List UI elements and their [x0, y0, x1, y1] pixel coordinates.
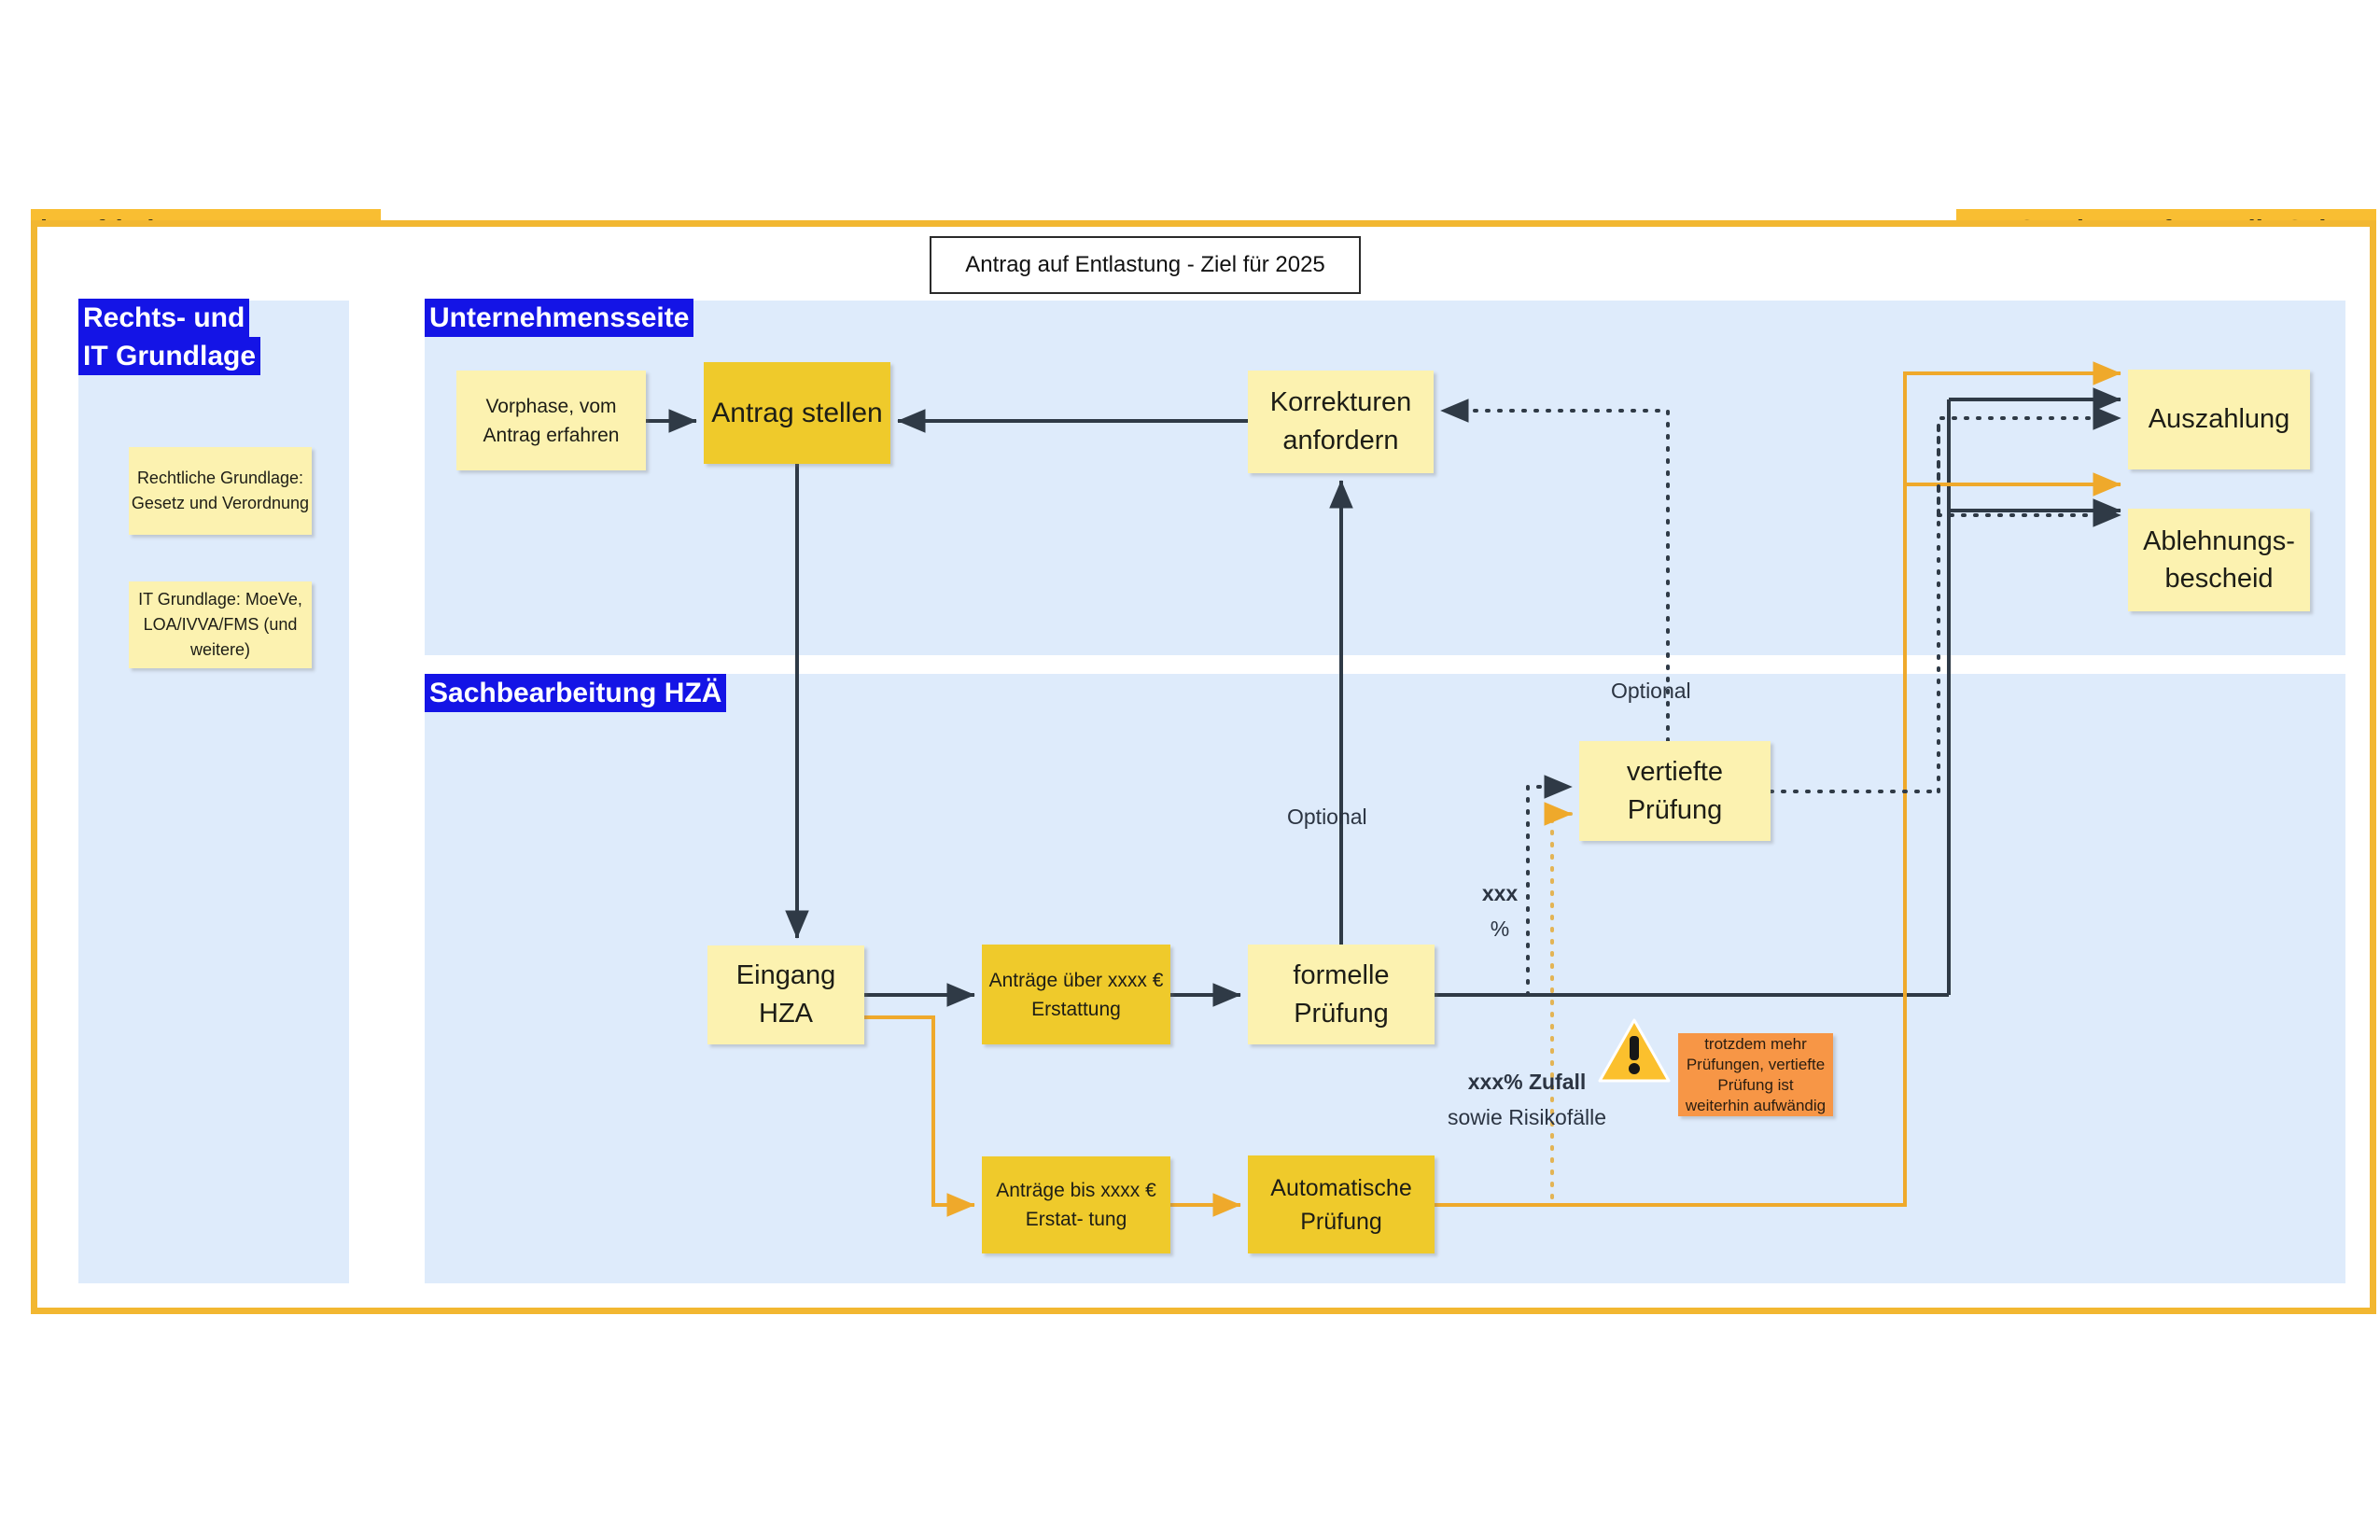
lane-title-rechts-it-line2: IT Grundlage: [78, 337, 260, 375]
lane-unternehmensseite-background: [425, 301, 2345, 655]
label-percent: %: [1477, 917, 1523, 942]
box-warn-note[interactable]: trotzdem mehr Prüfungen, vertiefte Prüfu…: [1678, 1033, 1833, 1116]
note-rechtliche-grundlage: Rechtliche Grundlage: Gesetz und Verordn…: [129, 447, 312, 535]
box-antrag-stellen[interactable]: Antrag stellen: [704, 362, 890, 464]
note-rechtliche-grundlage-text: Rechtliche Grundlage: Gesetz und Verordn…: [129, 466, 312, 516]
box-automatische-pruefung-label: Automatische Prüfung: [1248, 1171, 1435, 1239]
label-optional-formelle: Optional: [1287, 805, 1367, 830]
lane-title-sachbearbeitung: Sachbearbeitung HZÄ: [425, 674, 726, 712]
box-warn-note-label: trotzdem mehr Prüfungen, vertiefte Prüfu…: [1678, 1034, 1833, 1116]
box-vertiefte-pruefung-label: vertiefte Prüfung: [1579, 753, 1771, 830]
label-optional-vertiefte: Optional: [1611, 679, 1691, 704]
warning-triangle-icon: [1598, 1017, 1671, 1085]
box-automatische-pruefung[interactable]: Automatische Prüfung: [1248, 1155, 1435, 1253]
box-auszahlung-label: Auszahlung: [2143, 404, 2296, 435]
box-antraege-bis-label: Anträge bis xxxx € Erstat- tung: [982, 1176, 1170, 1234]
box-korrekturen-anfordern-label: Korrekturen anfordern: [1248, 384, 1434, 460]
box-formelle-pruefung[interactable]: formelle Prüfung: [1248, 945, 1435, 1044]
box-eingang-hza-label: Eingang HZA: [707, 957, 864, 1033]
box-formelle-pruefung-label: formelle Prüfung: [1248, 957, 1435, 1033]
note-it-grundlage-text: IT Grundlage: MoeVe, LOA/IVVA/FMS (und w…: [129, 587, 312, 663]
label-zufall-line1: xxx% Zufall: [1468, 1070, 1587, 1094]
box-vorphase[interactable]: Vorphase, vom Antrag erfahren: [456, 371, 646, 470]
box-korrekturen-anfordern[interactable]: Korrekturen anfordern: [1248, 371, 1434, 473]
lane-title-unternehmensseite: Unternehmensseite: [425, 299, 693, 337]
box-antrag-stellen-label: Antrag stellen: [706, 394, 888, 432]
box-antraege-bis[interactable]: Anträge bis xxxx € Erstat- tung: [982, 1156, 1170, 1253]
diagram-title-box: Antrag auf Entlastung - Ziel für 2025: [930, 236, 1361, 294]
box-ablehnungsbescheid-label: Ablehnungs- bescheid: [2128, 523, 2310, 597]
box-ablehnungsbescheid[interactable]: Ablehnungs- bescheid: [2128, 509, 2310, 611]
label-xxx: xxx: [1477, 881, 1523, 906]
note-it-grundlage: IT Grundlage: MoeVe, LOA/IVVA/FMS (und w…: [129, 581, 312, 668]
label-zufall-risikofaelle: xxx% Zufall sowie Risikofälle: [1448, 1064, 1606, 1135]
lane-title-rechts-it-line1: Rechts- und: [78, 299, 249, 337]
box-vertiefte-pruefung[interactable]: vertiefte Prüfung: [1579, 741, 1771, 841]
box-antraege-ueber-label: Anträge über xxxx € Erstattung: [982, 966, 1170, 1024]
box-antraege-ueber[interactable]: Anträge über xxxx € Erstattung: [982, 945, 1170, 1044]
label-zufall-line2: sowie Risikofälle: [1448, 1105, 1606, 1129]
label-xxx-text: xxx: [1482, 881, 1518, 905]
box-eingang-hza[interactable]: Eingang HZA: [707, 945, 864, 1044]
box-vorphase-label: Vorphase, vom Antrag erfahren: [456, 392, 646, 450]
box-auszahlung[interactable]: Auszahlung: [2128, 370, 2310, 469]
